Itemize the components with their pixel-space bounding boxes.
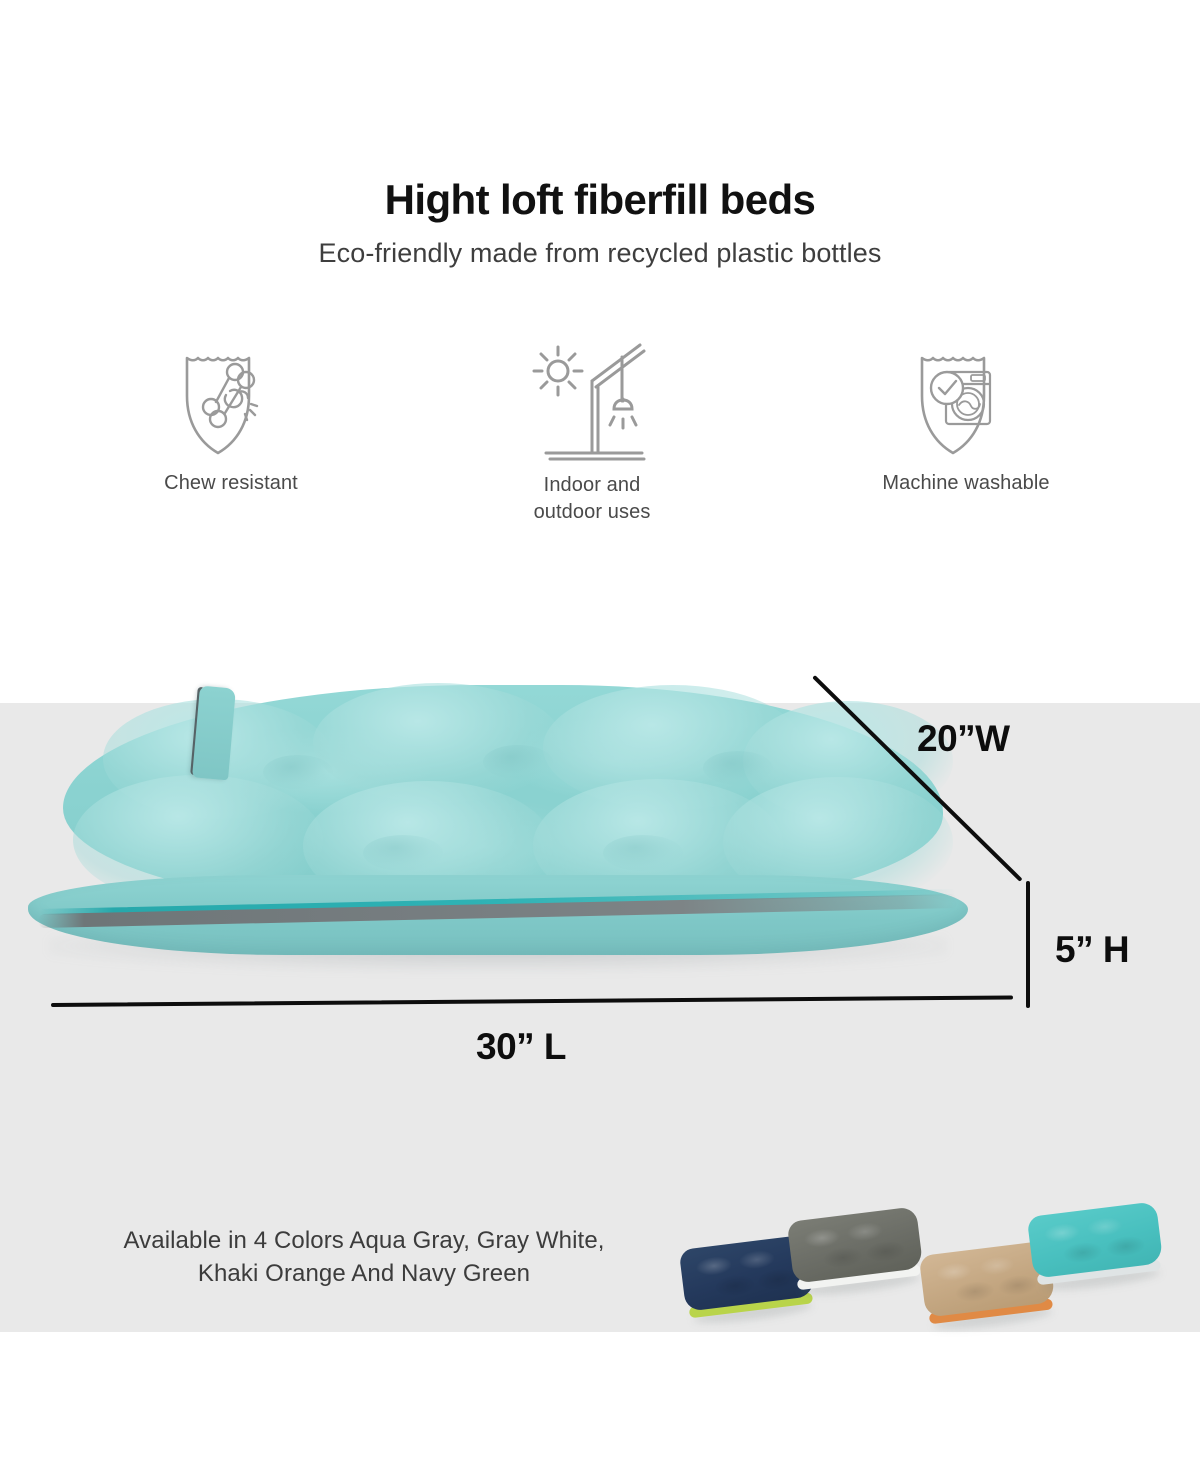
color-swatch-row [672, 1195, 1200, 1335]
dimension-line-height [1026, 881, 1030, 1008]
swatch-tufting [927, 1247, 1046, 1311]
product-hero [0, 640, 1200, 1040]
feature-machine-washable: Machine washable [816, 330, 1116, 497]
dimension-label-width: 20”W [917, 718, 1010, 760]
feature-label: Machine washable [816, 470, 1116, 497]
pillow-tuft [703, 751, 773, 785]
dimension-label-length: 30” L [476, 1026, 566, 1068]
dimension-label-height: 5” H [1055, 929, 1129, 971]
sun-lamp-icon [442, 330, 742, 472]
pillow-tuft [263, 755, 333, 789]
swatch-tufting [1035, 1208, 1154, 1272]
feature-indoor-outdoor: Indoor and outdoor uses [442, 330, 742, 526]
page-subtitle: Eco-friendly made from recycled plastic … [0, 222, 1200, 269]
feature-label: Indoor and outdoor uses [442, 472, 742, 526]
pillow-tuft [363, 835, 443, 871]
shield-washer-icon [816, 330, 1116, 470]
header: Hight loft fiberfill beds Eco-friendly m… [0, 0, 1200, 269]
feature-label: Chew resistant [81, 470, 381, 497]
color-swatch-gray-white[interactable] [787, 1206, 924, 1283]
page-title: Hight loft fiberfill beds [0, 0, 1200, 222]
color-swatch-aqua-gray[interactable] [1027, 1201, 1164, 1278]
color-options-text: Available in 4 Colors Aqua Gray, Gray Wh… [64, 1224, 664, 1290]
pillow-tuft [483, 745, 553, 779]
swatch-tufting [687, 1241, 806, 1305]
product-image-aqua-bed [18, 665, 978, 995]
feature-list: Chew resistant Indoor and outdoor uses [0, 330, 1200, 560]
swatch-tufting [795, 1213, 914, 1277]
shield-bone-icon [81, 330, 381, 470]
feature-chew-resistant: Chew resistant [81, 330, 381, 497]
pillow-body [18, 665, 978, 955]
pillow-tuft [603, 835, 683, 871]
color-options-section: Available in 4 Colors Aqua Gray, Gray Wh… [0, 1195, 1200, 1335]
